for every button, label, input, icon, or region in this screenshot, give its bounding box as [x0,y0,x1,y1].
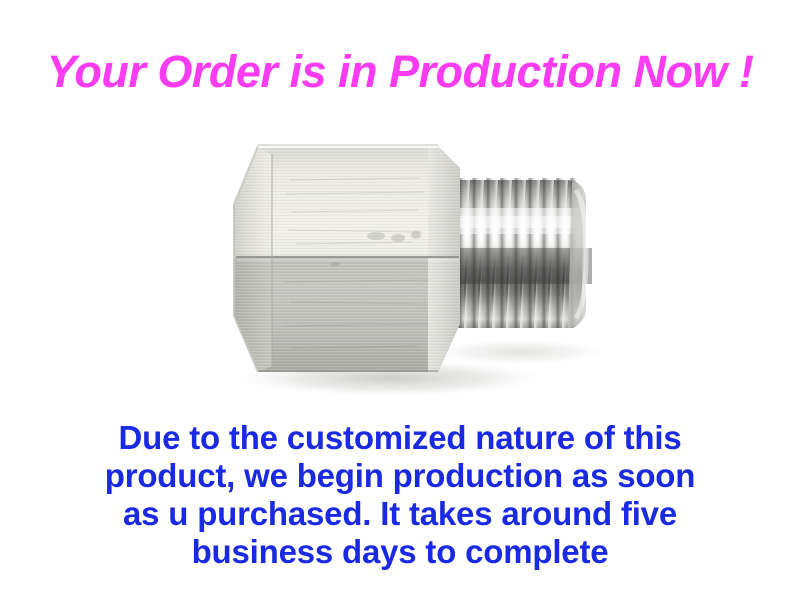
hex-adapter-fitting-illustration [0,120,800,405]
disclaimer-line-1: Due to the customized nature of this [0,419,800,457]
threaded-nipple [450,174,595,336]
product-photo [0,120,800,405]
disclaimer-line-4: business days to complete [0,533,800,571]
disclaimer-line-3: as u purchased. It takes around five [0,495,800,533]
promotional-banner: Your Order is in Production Now ! [0,0,800,600]
hex-body [234,145,460,372]
product-shadow-secondary [425,338,615,366]
thread-crests-bottom [455,328,567,336]
disclaimer-text: Due to the customized nature of this pro… [0,419,800,571]
page-title: Your Order is in Production Now ! [0,48,800,95]
disclaimer-line-2: product, we begin production as soon [0,457,800,495]
